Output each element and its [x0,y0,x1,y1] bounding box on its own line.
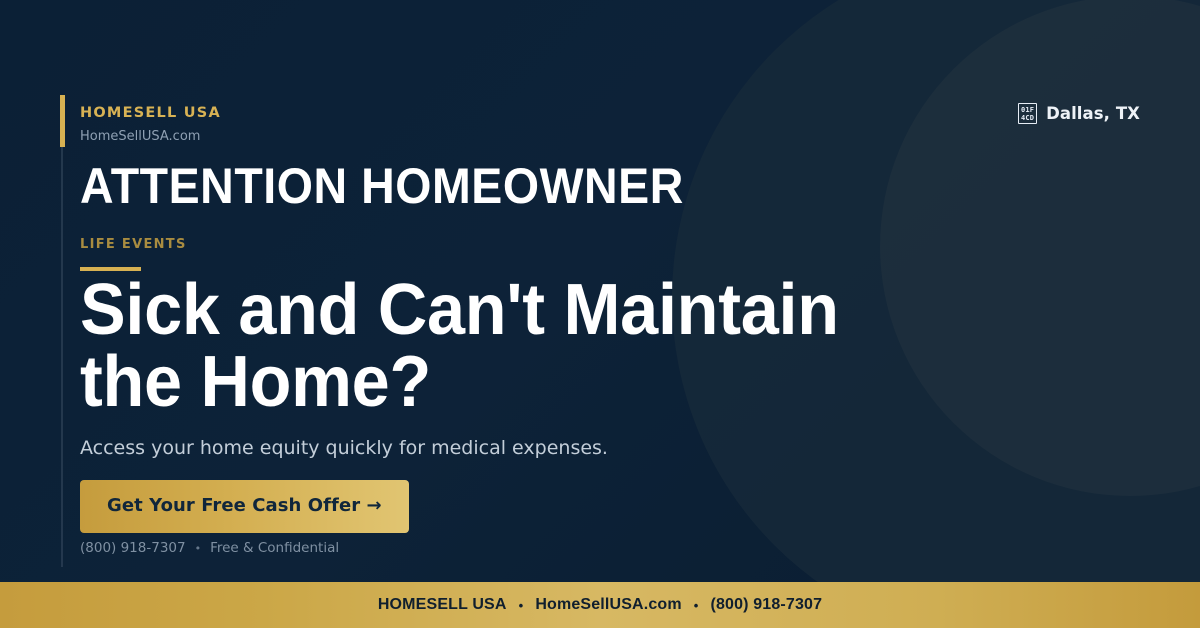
pin-glyph-line-1: 01F [1021,106,1034,114]
subheadline: Access your home equity quickly for medi… [80,436,608,461]
location-badge: 01F 4CD Dallas, TX [1018,103,1140,124]
location-pin-icon: 01F 4CD [1018,103,1037,124]
brand-website: HomeSellUSA.com [80,130,221,143]
brand-block: HOMESELL USA HomeSellUSA.com [80,106,221,143]
trust-phone: (800) 918-7307 [80,542,186,556]
pin-glyph-line-2: 4CD [1021,114,1034,122]
footer-separator-1: • [519,598,524,613]
kicker-block: LIFE EVENTS [80,238,187,271]
ad-banner: HOMESELL USA HomeSellUSA.com ATTENTION H… [0,0,1200,628]
footer-phone: (800) 918-7307 [710,596,822,614]
footer-brand: HOMESELL USA [378,596,507,614]
footer-separator-2: • [694,598,699,613]
footer-website: HomeSellUSA.com [535,596,681,614]
trust-line: (800) 918-7307 • Free & Confidential [80,542,339,556]
left-vertical-rule [61,147,63,567]
main-headline: Sick and Can't Maintain the Home? [80,274,916,418]
footer-content: HOMESELL USA • HomeSellUSA.com • (800) 9… [378,596,822,614]
attention-headline: ATTENTION HOMEOWNER [80,161,684,211]
location-label: Dallas, TX [1046,104,1140,123]
trust-note: Free & Confidential [210,542,339,556]
footer-bar: HOMESELL USA • HomeSellUSA.com • (800) 9… [0,582,1200,628]
content-column: HOMESELL USA HomeSellUSA.com ATTENTION H… [80,0,960,582]
trust-separator: • [195,543,202,554]
brand-name: HOMESELL USA [80,106,221,121]
gold-accent-bar [60,95,65,147]
cta-button[interactable]: Get Your Free Cash Offer → [80,480,409,533]
kicker-label: LIFE EVENTS [80,238,187,251]
